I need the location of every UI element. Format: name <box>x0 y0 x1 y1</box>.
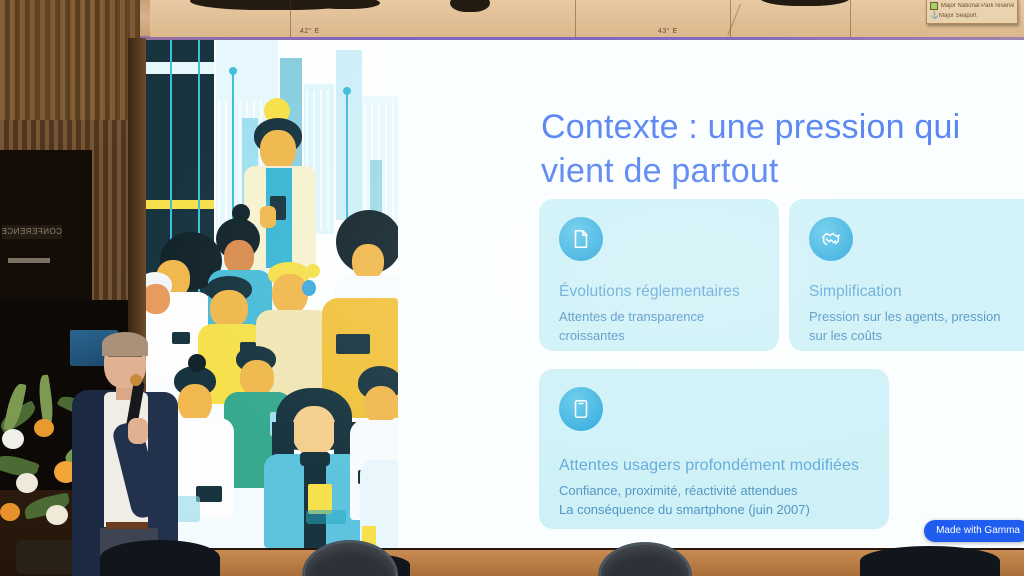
slide-title-line-2: vient de partout <box>541 152 779 190</box>
speaker-presenter <box>60 326 200 576</box>
slide-content: Contexte : une pression qui vient de par… <box>398 40 1024 548</box>
legend-swatch-seaport-icon: ⚓ <box>930 13 936 19</box>
legend-swatch-park-icon <box>930 2 938 10</box>
smartphone-icon <box>559 387 603 431</box>
card-evolutions-reglementaires: Évolutions réglementaires Attentes de tr… <box>539 199 779 351</box>
audience-silhouette <box>860 546 1000 576</box>
previous-slide-map-bleed: 42° E 43° E Major National Park reserve … <box>150 0 1024 37</box>
handshake-icon <box>809 217 853 261</box>
made-with-badge[interactable]: Made with Gamma <box>924 520 1024 542</box>
card-attentes-usagers: Attentes usagers profondément modifiées … <box>539 369 889 529</box>
venue-sign-underline <box>8 258 50 263</box>
card-3-body-line-2: La conséquence du smartphone (juin 2007) <box>559 501 869 520</box>
card-3-heading: Attentes usagers profondément modifiées <box>559 457 869 475</box>
card-2-body: Pression sur les agents, pression sur le… <box>809 308 1019 346</box>
venue-sign: CONFERENCE ROOM <box>2 225 62 239</box>
projected-slide: Contexte : une pression qui vient de par… <box>146 40 1024 548</box>
card-2-heading: Simplification <box>809 283 1019 301</box>
screenshot-root: CONFERENCE ROOM 42° E 43° E Major Nation… <box>0 0 1024 576</box>
document-icon <box>559 217 603 261</box>
audience-silhouette <box>100 540 220 576</box>
card-1-body: Attentes de transparence croissantes <box>559 308 759 346</box>
map-longitude-label-2: 43° E <box>658 28 678 35</box>
slide-title-line-1: Contexte : une pression qui <box>541 108 960 146</box>
legend-label-park: Major National Park reserve <box>941 3 1014 9</box>
map-legend: Major National Park reserve ⚓ Major Seap… <box>926 0 1018 24</box>
card-1-heading: Évolutions réglementaires <box>559 283 759 301</box>
card-simplification: Simplification Pression sur les agents, … <box>789 199 1024 351</box>
map-longitude-label-1: 42° E <box>300 28 320 35</box>
slide-title: Contexte : une pression qui vient de par… <box>541 106 971 193</box>
card-3-body-line-1: Confiance, proximité, réactivité attendu… <box>559 482 869 501</box>
legend-label-seaport: Major Seaport <box>939 13 977 19</box>
